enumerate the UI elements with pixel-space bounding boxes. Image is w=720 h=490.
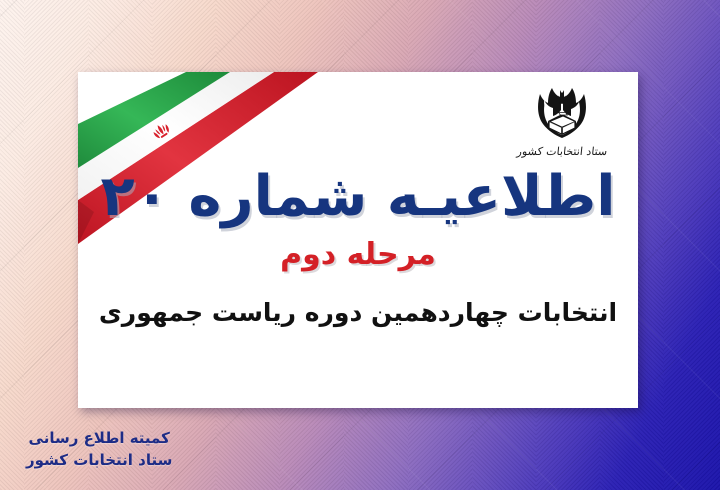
credit-block: کمیته اطلاع رسانی ستاد انتخابات کشور — [26, 428, 172, 472]
announcement-card: ستاد انتخابات کشور اطلاعیـه شماره ۲۰ مرح… — [78, 72, 638, 408]
announcement-title: اطلاعیـه شماره ۲۰ — [78, 168, 638, 227]
credit-line-2: ستاد انتخابات کشور — [26, 450, 172, 472]
election-logo-caption: ستاد انتخابات کشور — [513, 145, 610, 158]
election-logo: ستاد انتخابات کشور — [514, 80, 610, 158]
credit-line-1: کمیته اطلاع رسانی — [26, 428, 172, 450]
election-headquarters-emblem-icon — [532, 80, 592, 142]
announcement-description: انتخابات چهاردهمین دوره ریاست جمهوری — [78, 298, 638, 327]
announcement-stage: مرحله دوم — [78, 237, 638, 272]
headline-block: اطلاعیـه شماره ۲۰ مرحله دوم انتخابات چها… — [78, 168, 638, 327]
announcement-poster: ستاد انتخابات کشور اطلاعیـه شماره ۲۰ مرح… — [0, 0, 720, 490]
